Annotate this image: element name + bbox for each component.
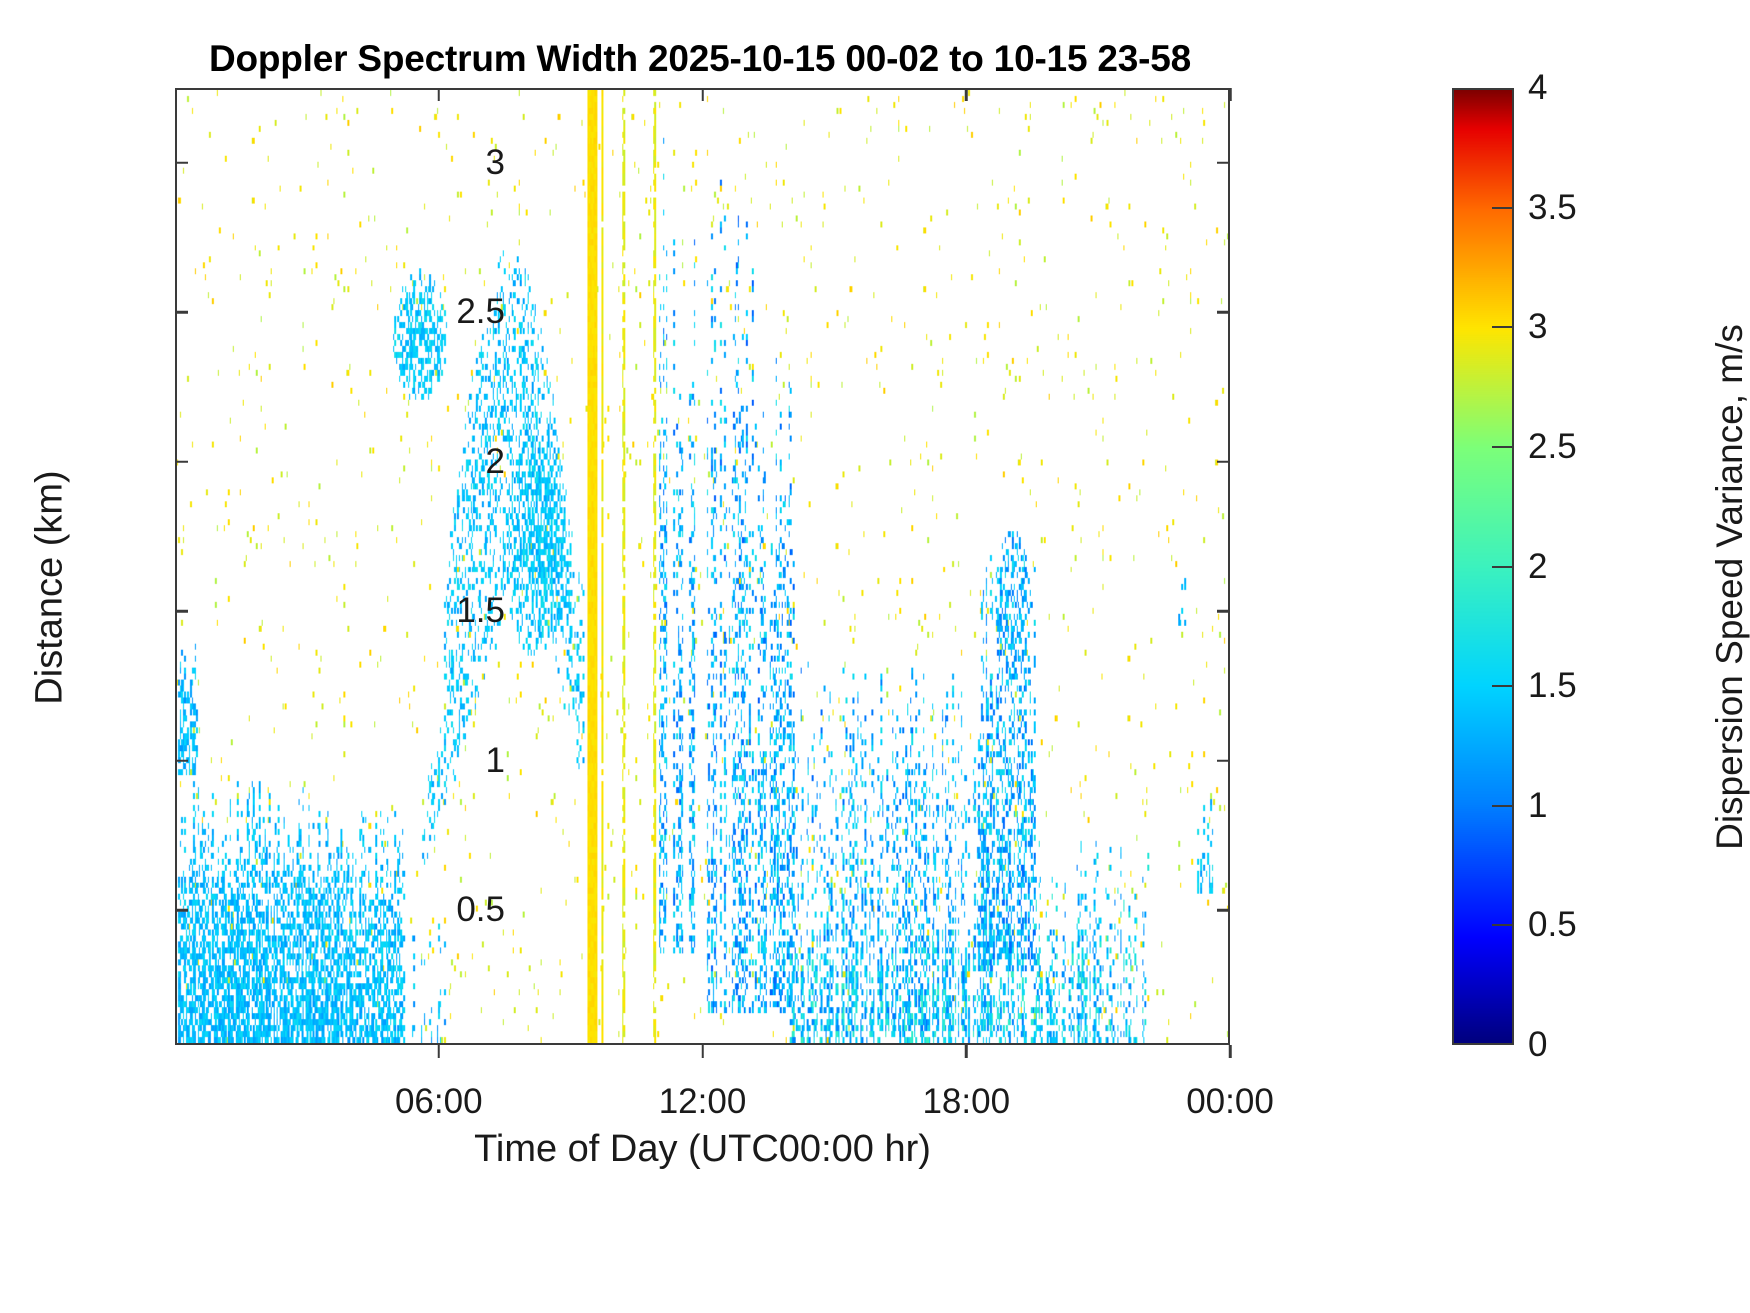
y-tick-mark bbox=[175, 760, 188, 763]
x-tick-mark-top bbox=[438, 88, 441, 101]
x-tick-mark bbox=[701, 1045, 704, 1058]
y-tick-mark bbox=[175, 909, 188, 912]
y-tick-mark bbox=[175, 162, 188, 165]
x-tick-label: 12:00 bbox=[659, 1082, 747, 1122]
colorbar-tick-label: 3.5 bbox=[1528, 188, 1577, 228]
colorbar-tick-label: 2 bbox=[1528, 547, 1547, 587]
x-tick-mark bbox=[1229, 1045, 1232, 1058]
page-title: Doppler Spectrum Width 2025-10-15 00-02 … bbox=[0, 38, 1400, 80]
colorbar-tick-mark bbox=[1492, 207, 1512, 209]
y-axis-label: Distance (km) bbox=[29, 358, 72, 818]
y-tick-label: 2.5 bbox=[456, 292, 505, 332]
y-tick-mark-right bbox=[1217, 162, 1230, 165]
y-tick-mark bbox=[175, 311, 188, 314]
y-tick-mark-right bbox=[1217, 760, 1230, 763]
x-tick-label: 06:00 bbox=[395, 1082, 483, 1122]
figure-canvas: Doppler Spectrum Width 2025-10-15 00-02 … bbox=[0, 0, 1750, 1313]
colorbar-tick-label: 4 bbox=[1528, 68, 1547, 108]
heatmap-axes bbox=[175, 88, 1230, 1045]
heatmap-image bbox=[177, 90, 1228, 1043]
colorbar-tick-label: 3 bbox=[1528, 307, 1547, 347]
y-tick-label: 1.5 bbox=[456, 591, 505, 631]
colorbar-tick-label: 1.5 bbox=[1528, 666, 1577, 706]
colorbar-tick-label: 2.5 bbox=[1528, 427, 1577, 467]
y-tick-label: 2 bbox=[486, 442, 505, 482]
y-tick-mark-right bbox=[1217, 461, 1230, 464]
x-tick-mark bbox=[438, 1045, 441, 1058]
colorbar-tick-mark bbox=[1492, 566, 1512, 568]
colorbar-tick-mark bbox=[1492, 326, 1512, 328]
y-tick-mark-right bbox=[1217, 610, 1230, 613]
y-tick-mark bbox=[175, 610, 188, 613]
x-tick-mark bbox=[965, 1045, 968, 1058]
y-tick-label: 3 bbox=[486, 143, 505, 183]
x-axis-label: Time of Day (UTC00:00 hr) bbox=[175, 1128, 1230, 1171]
colorbar-tick-label: 0 bbox=[1528, 1025, 1547, 1065]
colorbar-tick-mark bbox=[1492, 446, 1512, 448]
x-tick-label: 18:00 bbox=[922, 1082, 1010, 1122]
colorbar-tick-mark bbox=[1492, 924, 1512, 926]
colorbar-tick-label: 0.5 bbox=[1528, 905, 1577, 945]
x-tick-mark-top bbox=[701, 88, 704, 101]
y-tick-label: 0.5 bbox=[456, 890, 505, 930]
x-tick-mark-top bbox=[1229, 88, 1232, 101]
y-tick-mark-right bbox=[1217, 909, 1230, 912]
y-tick-mark bbox=[175, 461, 188, 464]
colorbar-label: Dispersion Speed Variance, m/s bbox=[1709, 207, 1750, 967]
y-tick-label: 1 bbox=[486, 741, 505, 781]
colorbar-tick-label: 1 bbox=[1528, 786, 1547, 826]
x-tick-label: 00:00 bbox=[1186, 1082, 1274, 1122]
colorbar-tick-mark bbox=[1492, 685, 1512, 687]
colorbar-tick-mark bbox=[1492, 805, 1512, 807]
x-tick-mark-top bbox=[965, 88, 968, 101]
y-tick-mark-right bbox=[1217, 311, 1230, 314]
